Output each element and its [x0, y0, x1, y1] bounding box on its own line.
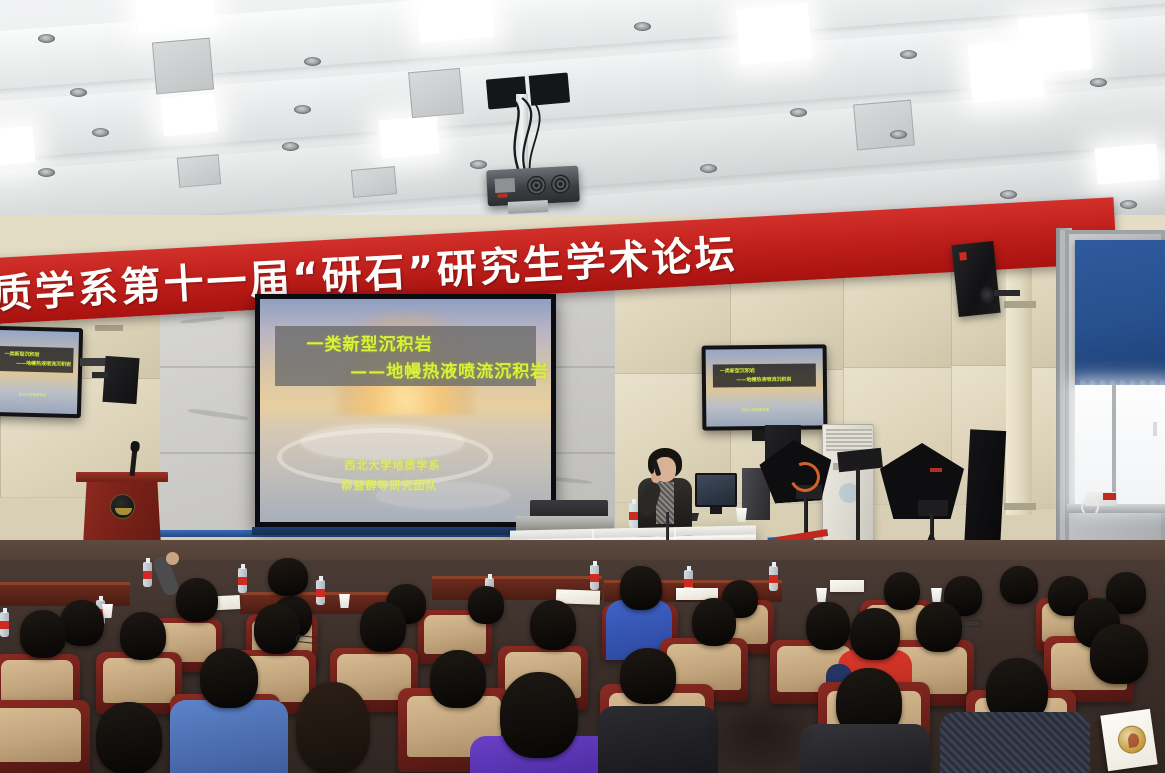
audience-table [0, 582, 130, 606]
ceiling-downlight [70, 88, 87, 97]
audience-head [916, 602, 962, 652]
window-blind[interactable] [1075, 240, 1165, 385]
water-bottle [629, 503, 638, 528]
ceiling-downlight [38, 34, 55, 43]
slide-team: 柳益群等研究团队 [341, 477, 437, 493]
audience-head [806, 602, 850, 650]
lecture-hall-photo: 地质学系第十一届“研石”研究生学术论坛 一类新型沉积岩 ——地幔热液喷流沉积岩 … [0, 0, 1165, 773]
window-glass [1075, 385, 1165, 505]
audience-head [360, 602, 406, 652]
left-wall-monitor: 一类新型沉积岩 ——地幔热液喷流沉积岩 西北大学地质学系 [0, 326, 83, 418]
ceiling-air-vent [177, 154, 221, 188]
water-bottle [769, 566, 778, 591]
ceiling-air-vent [408, 68, 464, 118]
ceiling-downlight [1120, 200, 1137, 209]
ceiling-air-vent [152, 38, 214, 95]
slide-title-line2: ——地幔热液喷流沉积岩 [350, 357, 548, 382]
audience-hand [166, 552, 179, 565]
ceiling-air-vent [853, 100, 915, 151]
ceiling-downlight [1090, 78, 1107, 87]
audience-head [120, 612, 166, 660]
ceiling-panel-light [0, 126, 35, 166]
audience-chair [0, 700, 90, 773]
audience-head [60, 600, 104, 646]
audience-head [200, 648, 258, 708]
sill-object-red [1103, 493, 1116, 500]
water-bottle [590, 565, 599, 590]
desktop-monitor [695, 473, 737, 507]
slide-title-line1: 一类新型沉积岩 [307, 330, 433, 355]
projector-lens-housing [508, 200, 549, 214]
audience-head [500, 672, 578, 758]
ceiling-panel-light [968, 39, 1045, 103]
audience-head [20, 610, 66, 658]
left-monitor-bracket [80, 358, 106, 366]
projection-screen-frame: 一类新型沉积岩 ——地幔热液喷流沉积岩 西北大学地质学系 柳益群等研究团队 [255, 294, 556, 527]
water-bottle [238, 568, 247, 593]
right-monitor-line2: ——地幔热液喷流沉积岩 [736, 376, 791, 384]
ceiling-downlight [92, 128, 109, 137]
audience-head [620, 648, 676, 704]
desktop-monitor-stand [710, 507, 722, 514]
ceiling-downlight [700, 164, 717, 173]
ceiling-downlight [38, 168, 55, 177]
audience-head [692, 598, 736, 646]
ceiling-panel-light [416, 0, 494, 43]
audience-head [176, 578, 218, 622]
audience-head [430, 650, 486, 708]
audience-head [96, 702, 162, 773]
ceiling-downlight [900, 50, 917, 59]
ceiling-panel-light [378, 116, 439, 159]
ceiling-downlight [470, 160, 487, 169]
document-on-table [830, 580, 864, 592]
ceiling-downlight [890, 130, 907, 139]
right-monitor-footer: 西北大学地质学系 [741, 407, 769, 412]
ceiling-panel-light [1095, 143, 1160, 184]
ceiling-downlight [1000, 190, 1017, 199]
ceiling-panel-light [160, 94, 217, 137]
audience-head [530, 600, 576, 650]
projection-screen: 一类新型沉积岩 ——地幔热液喷流沉积岩 西北大学地质学系 柳益群等研究团队 [260, 299, 551, 522]
booklet-seal-emblem [1116, 724, 1148, 756]
audience-head [268, 558, 308, 596]
left-monitor-line1: 一类新型沉积岩 [4, 350, 39, 358]
audience-head [884, 572, 920, 610]
audience-head [468, 586, 504, 624]
audience-head [850, 608, 900, 660]
audience-head [1000, 566, 1038, 604]
speaker-bracket-right [994, 290, 1020, 296]
left-monitor-line2: ——地幔热液喷流沉积岩 [16, 359, 71, 367]
slide-organization: 西北大学地质学系 [344, 457, 440, 473]
window [1060, 230, 1165, 560]
water-bottle [0, 612, 9, 637]
audience-head [620, 566, 662, 610]
ceiling-downlight [294, 105, 311, 114]
ceiling-air-vent [351, 166, 397, 198]
speaker-bracket-left [92, 372, 108, 378]
water-bottle [143, 562, 152, 587]
ceiling-downlight [634, 22, 651, 31]
audience-head [254, 604, 300, 654]
wall-speaker-right [951, 241, 1000, 317]
sill-cable [1081, 498, 1099, 516]
audience-torso [170, 700, 288, 773]
lectern-emblem [110, 494, 135, 519]
ceiling-downlight [304, 57, 321, 66]
lectern-top [76, 472, 168, 482]
forum-program-booklet[interactable] [1100, 709, 1157, 771]
ceiling-panel-light [736, 3, 813, 65]
audience-head [296, 682, 370, 773]
right-wall-monitor: 一类新型沉积岩 ——地幔热液喷流沉积岩 西北大学地质学系 [702, 344, 828, 430]
softbox-brand-label [930, 468, 942, 472]
ceiling-downlight [790, 108, 807, 117]
aisle-shadow [700, 690, 820, 773]
wall-speaker-left [102, 356, 139, 404]
audience-torso [940, 712, 1090, 773]
right-monitor-line1: 一类新型沉积岩 [720, 368, 755, 375]
eyeglasses [962, 620, 982, 627]
window-handle[interactable] [1153, 422, 1157, 436]
audience-head [1090, 624, 1148, 684]
left-monitor-footer: 西北大学地质学系 [19, 393, 47, 399]
ceiling-downlight [282, 142, 299, 151]
water-bottle [316, 580, 325, 605]
